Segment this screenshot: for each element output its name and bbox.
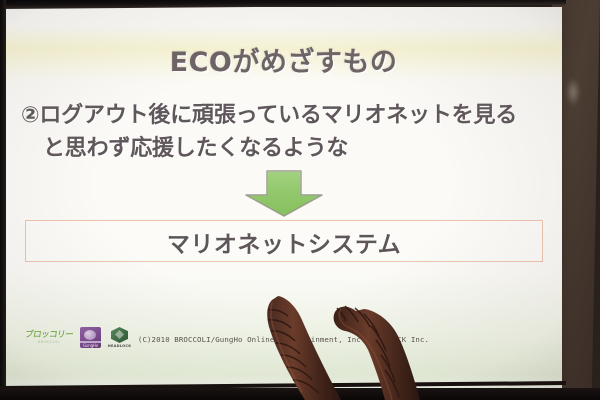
screen-left-frame bbox=[0, 0, 6, 400]
headlock-logo-label: HEADLOCK bbox=[108, 344, 131, 348]
down-arrow-icon bbox=[243, 170, 325, 218]
slide-body: ②ログアウト後に頑張っているマリオネットを見る と思わず応援したくなるような bbox=[21, 99, 551, 165]
wall-light-reflection bbox=[566, 78, 580, 106]
photo-stage: ECOがめざすもの ②ログアウト後に頑張っているマリオネットを見る と思わず応援… bbox=[0, 0, 600, 400]
photo-bottom-frame bbox=[0, 388, 600, 400]
copyright-notice: (C)2010 BROCCOLI/GungHo Online Entertain… bbox=[5, 335, 562, 344]
result-box-label: マリオネットシステム bbox=[26, 225, 542, 259]
body-line-2: と思わず応援したくなるような bbox=[21, 132, 551, 165]
projection-screen: ECOがめざすもの ②ログアウト後に頑張っているマリオネットを見る と思わず応援… bbox=[5, 7, 562, 392]
slide-title: ECOがめざすもの bbox=[5, 40, 562, 79]
body-line-1: ②ログアウト後に頑張っているマリオネットを見る bbox=[21, 99, 551, 132]
result-box: マリオネットシステム bbox=[25, 220, 543, 262]
